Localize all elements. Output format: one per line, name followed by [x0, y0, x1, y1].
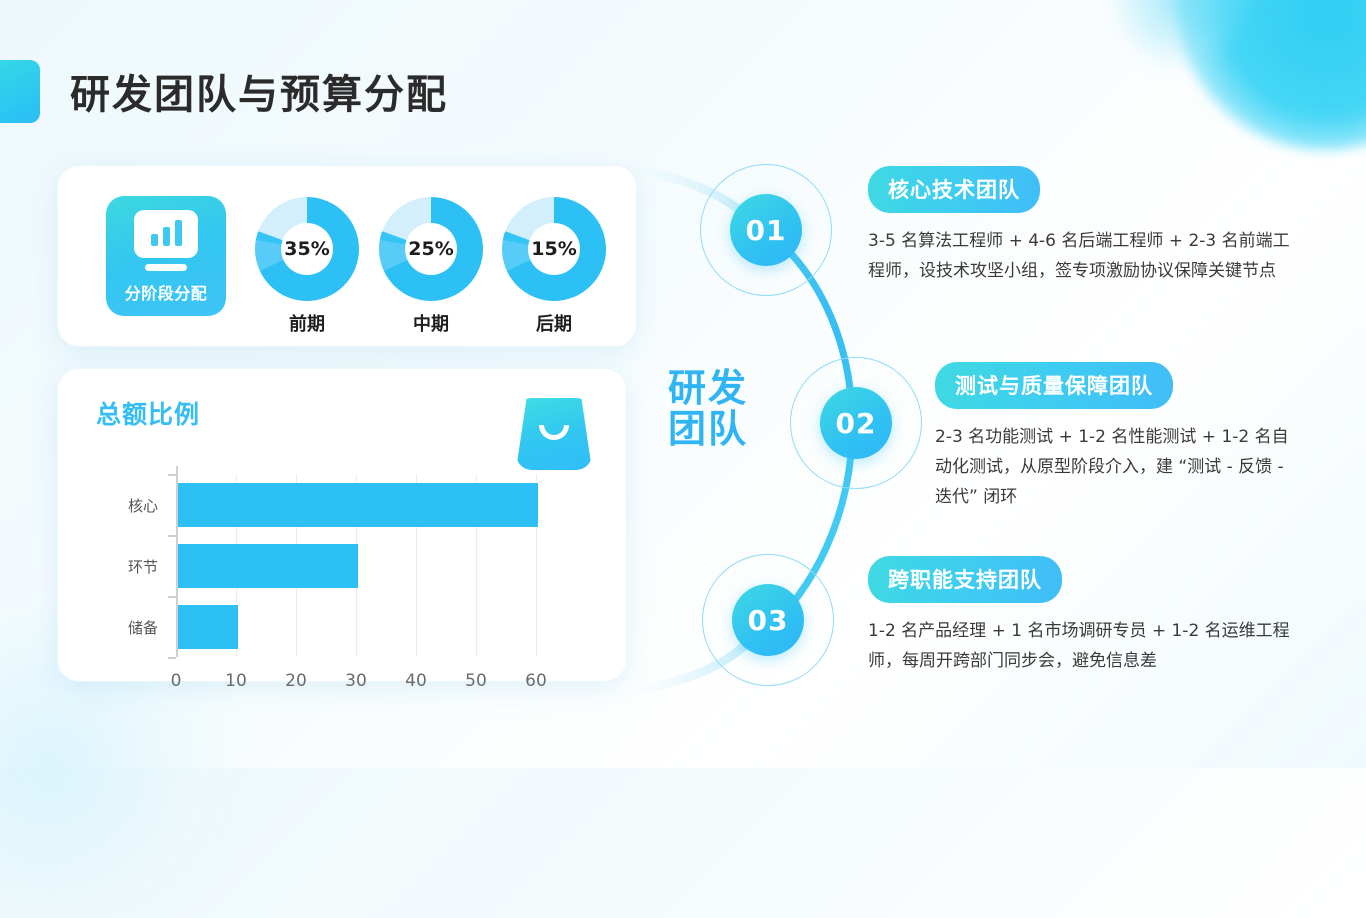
x-tick-label-60: 60 [525, 671, 547, 691]
step-node-03[interactable]: 03 [732, 584, 804, 656]
page-title: 研发团队与预算分配 [70, 62, 448, 120]
y-tick-end [168, 657, 176, 659]
step-text-03: 1-2 名产品经理 + 1 名市场调研专员 + 1-2 名运维工程师，每周开跨部… [868, 617, 1298, 677]
donut-caption-2: 后期 [502, 310, 606, 336]
background-blob-top-right [1176, 0, 1366, 150]
donut-ring-2: 15% [502, 197, 606, 301]
x-tick-label-50: 50 [465, 671, 487, 691]
bag-smile-arc [539, 425, 569, 440]
step-block-01: 核心技术团队 3-5 名算法工程师 + 4-6 名后端工程师 + 2-3 名前端… [868, 166, 1298, 287]
center-label-line-1: 研发 [668, 368, 778, 409]
x-tick-label-10: 10 [225, 671, 247, 691]
step-block-02: 测试与质量保障团队 2-3 名功能测试 + 1-2 名性能测试 + 1-2 名自… [935, 362, 1297, 512]
x-tick-label-30: 30 [345, 671, 367, 691]
shopping-bag-smile-icon [516, 398, 592, 470]
y-tick-2 [168, 596, 176, 598]
donut-caption-0: 前期 [255, 310, 359, 336]
bar-chart-title: 总额比例 [96, 395, 200, 431]
donut-ring-0: 35% [255, 197, 359, 301]
center-label: 研发 团队 [668, 368, 778, 450]
donut-value-2: 15% [528, 223, 580, 275]
title-accent-bar [0, 60, 40, 123]
y-tick-label-核心: 核心 [128, 495, 158, 516]
y-tick-0 [168, 474, 176, 476]
step-text-02: 2-3 名功能测试 + 1-2 名性能测试 + 1-2 名自动化测试，从原型阶段… [935, 423, 1297, 512]
step-badge-03[interactable]: 跨职能支持团队 [868, 556, 1062, 603]
bar-储备 [178, 605, 238, 649]
background-blob-top-right-small [1111, 0, 1251, 68]
bar-核心 [178, 483, 538, 527]
step-badge-02[interactable]: 测试与质量保障团队 [935, 362, 1173, 409]
stage-allocation-tile: 分阶段分配 [106, 196, 226, 316]
bar-chart-plot: 核心环节储备 0102030405060 [176, 474, 566, 657]
step-text-01: 3-5 名算法工程师 + 4-6 名后端工程师 + 2-3 名前端工程师，设技术… [868, 227, 1298, 287]
y-tick-label-环节: 环节 [128, 556, 158, 577]
donut-value-0: 35% [281, 223, 333, 275]
donut-value-1: 25% [405, 223, 457, 275]
monitor-stand-icon [145, 264, 187, 271]
step-node-01[interactable]: 01 [730, 194, 802, 266]
x-tick-label-20: 20 [285, 671, 307, 691]
step-block-03: 跨职能支持团队 1-2 名产品经理 + 1 名市场调研专员 + 1-2 名运维工… [868, 556, 1298, 677]
step-badge-01[interactable]: 核心技术团队 [868, 166, 1040, 213]
donut-chart-0: 35% 前期 [255, 197, 359, 336]
x-tick-label-0: 0 [171, 671, 182, 691]
bar-环节 [178, 544, 358, 588]
donut-ring-1: 25% [379, 197, 483, 301]
center-label-line-2: 团队 [668, 409, 778, 450]
x-tick-label-40: 40 [405, 671, 427, 691]
donut-chart-1: 25% 中期 [379, 197, 483, 336]
y-tick-1 [168, 535, 176, 537]
donut-caption-1: 中期 [379, 310, 483, 336]
step-node-02[interactable]: 02 [820, 387, 892, 459]
total-ratio-card: 总额比例 核心环节储备 0102030405060 [57, 368, 627, 682]
donut-chart-2: 15% 后期 [502, 197, 606, 336]
monitor-bar-chart-icon [134, 210, 198, 258]
stage-allocation-tile-label: 分阶段分配 [125, 280, 208, 304]
stage-allocation-card: 分阶段分配 35% 前期 25% 中期 15% 后期 [57, 165, 637, 347]
y-tick-label-储备: 储备 [128, 617, 158, 638]
